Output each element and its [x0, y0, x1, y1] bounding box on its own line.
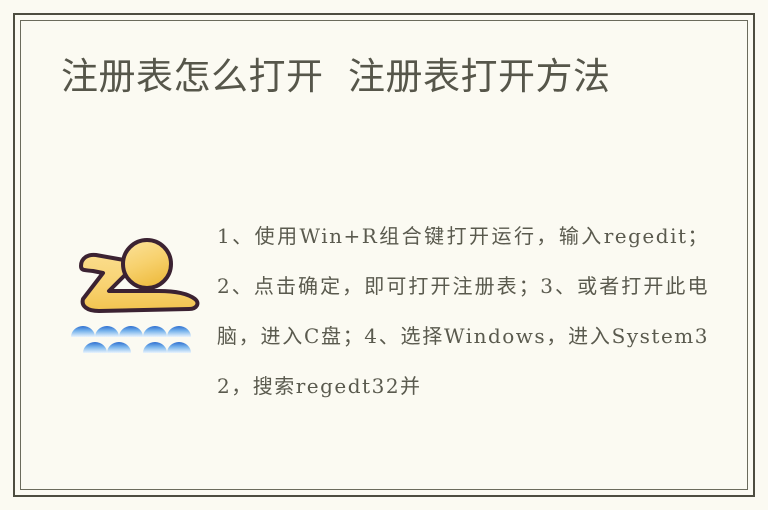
article-card-inner-border: 注册表怎么打开 注册表打开方法 [20, 20, 748, 490]
article-content: 注册表怎么打开 注册表打开方法 [21, 21, 747, 489]
article-body-text: 1、使用Win+R组合键打开运行，输入regedit；2、点击确定，即可打开注册… [217, 211, 723, 411]
article-card: 注册表怎么打开 注册表打开方法 [13, 13, 755, 497]
swimmer-figure [81, 240, 197, 311]
water-waves-row-1 [71, 326, 191, 337]
swimmer-icon [69, 233, 205, 353]
article-body-row: 1、使用Win+R组合键打开运行，输入regedit；2、点击确定，即可打开注册… [57, 211, 723, 411]
swimmer-head [123, 240, 171, 288]
water-waves-row-2 [83, 342, 191, 353]
illustration-container [57, 211, 217, 353]
page-title: 注册表怎么打开 注册表打开方法 [57, 51, 661, 103]
